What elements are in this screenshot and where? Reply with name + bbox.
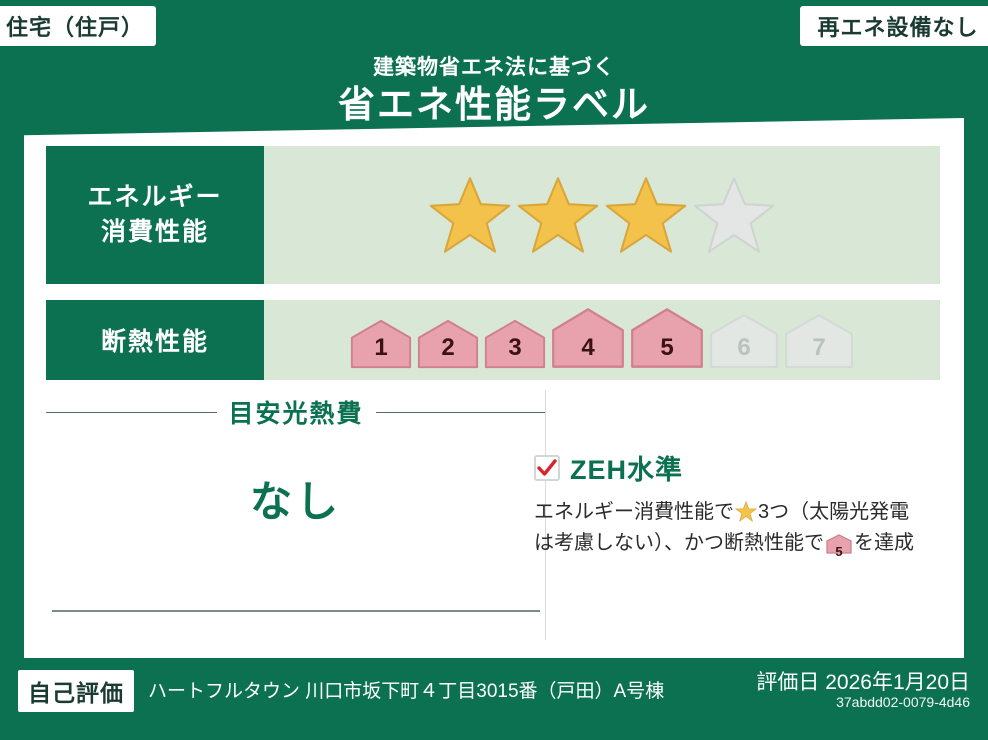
insulation-grade-3: 3	[484, 319, 546, 369]
star-icon-filled	[428, 175, 512, 255]
label-content-panel: エネルギー 消費性能 断熱性能 1234567 目安光熱費 なし	[24, 118, 964, 658]
utility-cost-bottom-rule	[52, 610, 540, 612]
energy-performance-value-cell	[264, 146, 940, 284]
insulation-grade-value: 7	[784, 334, 854, 362]
zeh-desc-part2: は考慮しない）、かつ断熱性能で	[534, 532, 824, 554]
insulation-grade-value: 4	[551, 334, 625, 362]
inline-grade-badge: 5	[826, 533, 852, 564]
star-icon-empty	[692, 175, 776, 255]
insulation-grade-7: 7	[784, 313, 854, 369]
star-icon-filled	[516, 175, 600, 255]
label-footer: 自己評価 ハートフルタウン 川口市坂下町４丁目3015番（戸田）A号棟 評価日 …	[0, 658, 988, 740]
building-type-badge: 住宅（住戸）	[0, 6, 156, 46]
document-id: 37abdd02-0079-4d46	[836, 694, 970, 710]
insulation-grade-value: 1	[350, 334, 412, 362]
title-subtitle: 建築物省エネ法に基づく	[0, 55, 988, 80]
renewable-equipment-badge: 再エネ設備なし	[800, 6, 988, 46]
insulation-grade-2: 2	[417, 319, 479, 369]
energy-label-line2: 消費性能	[101, 215, 209, 250]
insulation-performance-label-cell: 断熱性能	[46, 300, 264, 380]
insulation-grade-5: 5	[630, 307, 704, 369]
heading-rule-left	[46, 412, 217, 413]
insulation-grade-value: 3	[484, 334, 546, 362]
zeh-desc-stars: 3つ（太陽光発電	[758, 501, 909, 523]
title-block: 建築物省エネ法に基づく 省エネ性能ラベル	[0, 55, 988, 128]
insulation-performance-value-cell: 1234567	[264, 300, 940, 380]
insulation-grade-4: 4	[551, 307, 625, 369]
heading-rule-right	[376, 412, 547, 413]
zeh-standard-block: ZEH水準 エネルギー消費性能で3つ（太陽光発電は考慮しない）、かつ断熱性能で5…	[534, 448, 944, 564]
inline-grade-value: 5	[826, 542, 852, 562]
zeh-desc-part3: を達成	[854, 532, 914, 554]
insulation-grade-1: 1	[350, 319, 412, 369]
zeh-desc-part1: エネルギー消費性能で	[534, 501, 734, 523]
energy-label-line1: エネルギー	[87, 180, 222, 215]
insulation-grade-value: 5	[630, 334, 704, 362]
energy-performance-label: 住宅（住戸） 再エネ設備なし 建築物省エネ法に基づく 省エネ性能ラベル エネルギ…	[0, 0, 988, 740]
utility-cost-heading: 目安光熱費	[46, 394, 546, 430]
insulation-grade-scale: 1234567	[350, 307, 854, 374]
utility-cost-value: なし	[46, 468, 546, 529]
zeh-title-row: ZEH水準	[534, 448, 944, 487]
utility-cost-heading-text: 目安光熱費	[229, 394, 364, 430]
insulation-grade-6: 6	[709, 313, 779, 369]
property-name: ハートフルタウン 川口市坂下町４丁目3015番（戸田）A号棟	[148, 676, 664, 703]
page-title: 省エネ性能ラベル	[0, 82, 988, 128]
zeh-description: エネルギー消費性能で3つ（太陽光発電は考慮しない）、かつ断熱性能で5を達成	[534, 497, 944, 564]
insulation-grade-value: 6	[709, 334, 779, 362]
inline-star-icon	[735, 501, 757, 522]
evaluation-type-badge: 自己評価	[18, 670, 134, 712]
energy-performance-row: エネルギー 消費性能	[46, 146, 940, 284]
insulation-grade-value: 2	[417, 334, 479, 362]
checkmark-icon	[537, 459, 557, 477]
energy-performance-label-cell: エネルギー 消費性能	[46, 146, 264, 284]
evaluation-date: 評価日 2026年1月20日	[756, 666, 970, 696]
star-icon-filled	[604, 175, 688, 255]
zeh-checkbox	[534, 455, 560, 481]
insulation-performance-row: 断熱性能 1234567	[46, 300, 940, 380]
zeh-title: ZEH水準	[570, 448, 683, 487]
star-rating	[428, 175, 776, 255]
